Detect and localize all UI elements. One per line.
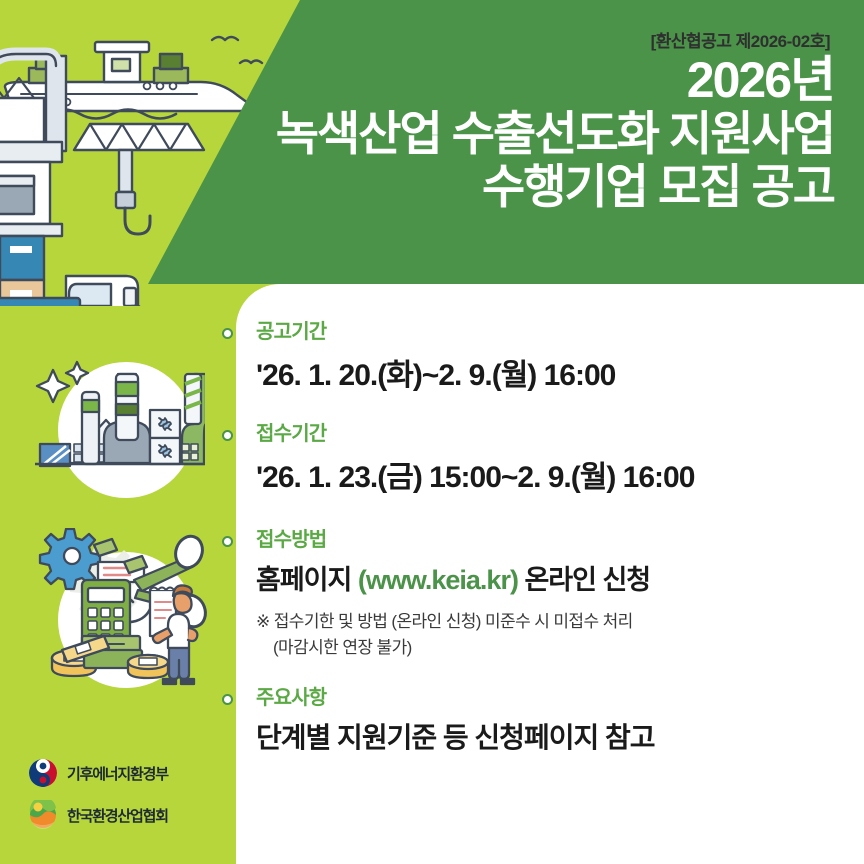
logo-association: 한국환경산업협회 <box>28 800 223 830</box>
info-block-key-points: 주요사항 단계별 지원기준 등 신청페이지 참고 <box>222 686 862 756</box>
logo-group: 기후에너지환경부 한국환경산업협회 <box>28 758 223 842</box>
info-note: ※ 접수기한 및 방법 (온라인 신청) 미준수 시 미접수 처리 (마감시한 … <box>256 609 862 660</box>
logo-ministry: 기후에너지환경부 <box>28 758 223 788</box>
method-suffix: 온라인 신청 <box>518 565 650 595</box>
logo-label: 한국환경산업협회 <box>67 805 168 826</box>
notice-code: [환산협공고 제2026-02호] <box>651 27 830 52</box>
keia-emblem-icon <box>28 800 58 830</box>
note-line-2: (마감시한 연장 불가) <box>256 635 862 661</box>
info-label: 접수방법 <box>256 528 862 552</box>
poster-root: [환산협공고 제2026-02호] 2026년 녹색산업 수출선도화 지원사업 … <box>0 0 864 864</box>
info-value: 단계별 지원기준 등 신청페이지 참고 <box>256 716 862 756</box>
page-title: 2026년 녹색산업 수출선도화 지원사업 수행기업 모집 공고 <box>276 55 834 210</box>
info-label: 접수기간 <box>256 422 862 446</box>
birds-icon <box>212 37 262 63</box>
title-line-3: 수행기업 모집 공고 <box>276 163 834 210</box>
bullet-circle-icon <box>222 430 233 441</box>
info-value: '26. 1. 23.(금) 15:00~2. 9.(월) 16:00 <box>256 452 862 496</box>
info-block-application-method: 접수방법 홈페이지 (www.keia.kr) 온라인 신청 ※ 접수기한 및 … <box>222 528 862 660</box>
info-label: 주요사항 <box>256 686 862 710</box>
finance-support-illustration <box>26 528 216 708</box>
cargo-boxes-icon <box>0 236 44 306</box>
bullet-circle-icon <box>222 328 233 339</box>
note-line-1: ※ 접수기한 및 방법 (온라인 신청) 미준수 시 미접수 처리 <box>256 612 633 631</box>
eco-factory-illustration <box>30 348 205 513</box>
bullet-circle-icon <box>222 536 233 547</box>
logo-label: 기후에너지환경부 <box>67 763 168 784</box>
info-list: 공고기간 '26. 1. 20.(화)~2. 9.(월) 16:00 접수기간 … <box>222 320 862 756</box>
website-url[interactable]: (www.keia.kr) <box>358 565 518 595</box>
info-block-announcement-period: 공고기간 '26. 1. 20.(화)~2. 9.(월) 16:00 <box>222 320 862 394</box>
info-value: '26. 1. 20.(화)~2. 9.(월) 16:00 <box>256 350 862 394</box>
info-block-application-period: 접수기간 '26. 1. 23.(금) 15:00~2. 9.(월) 16:00 <box>222 422 862 496</box>
method-prefix: 홈페이지 <box>256 565 358 595</box>
info-label: 공고기간 <box>256 320 862 344</box>
info-value-method: 홈페이지 (www.keia.kr) 온라인 신청 <box>256 558 862 597</box>
title-line-2: 녹색산업 수출선도화 지원사업 <box>276 110 834 157</box>
taegeuk-icon <box>28 758 58 788</box>
title-line-1: 2026년 <box>276 55 834 105</box>
bullet-circle-icon <box>222 694 233 705</box>
